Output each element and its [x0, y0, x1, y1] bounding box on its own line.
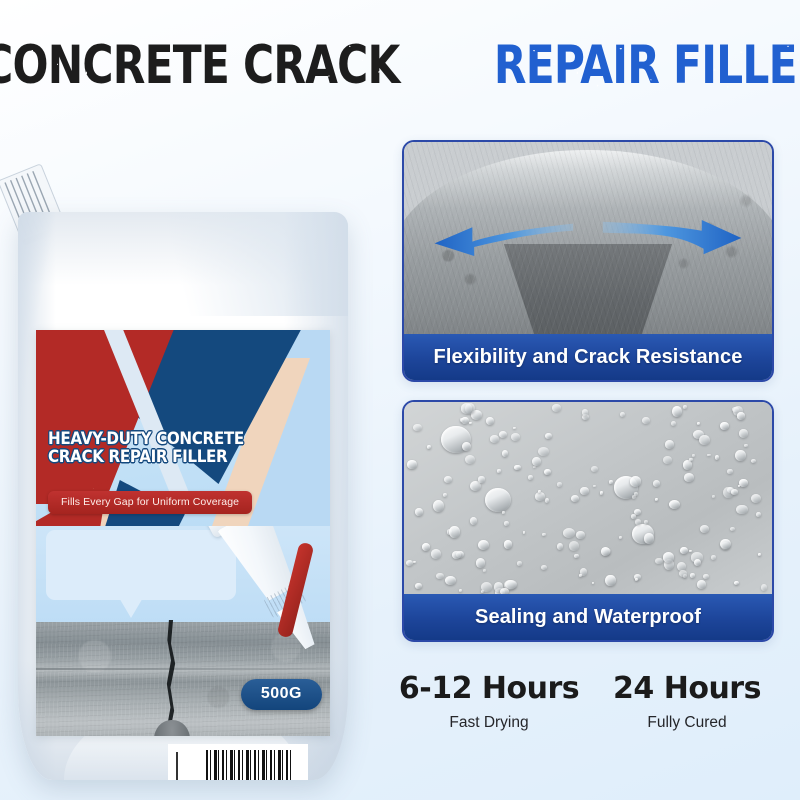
- arrow-left-icon: [422, 220, 584, 256]
- headline-part-primary: CONCRETE CRACK: [0, 39, 399, 92]
- water-droplet: [538, 490, 541, 493]
- water-droplet: [631, 514, 636, 518]
- water-droplet: [700, 525, 709, 533]
- label-tagline-banner: Fills Every Gap for Uniform Coverage: [48, 491, 252, 514]
- water-droplet: [580, 487, 588, 495]
- water-droplet: [735, 450, 746, 461]
- water-droplet: [737, 412, 744, 419]
- water-droplet: [720, 539, 730, 549]
- label-product-title: HEAVY-DUTY CONCRETE CRACK REPAIR FILLER: [48, 430, 302, 467]
- stat-fast-drying: 6-12 Hours Fast Drying: [390, 672, 588, 758]
- water-droplet: [528, 475, 533, 480]
- pouch-body: HEAVY-DUTY CONCRETE CRACK REPAIR FILLER …: [18, 212, 348, 780]
- page-title: CONCRETE CRACK REPAIR FILLER: [0, 34, 800, 96]
- water-droplet: [542, 533, 546, 536]
- water-droplet: [461, 403, 472, 413]
- water-droplet: [579, 574, 582, 576]
- water-droplet: [609, 480, 612, 484]
- water-droplet: [514, 465, 521, 470]
- barcode-icon: [206, 750, 292, 780]
- stat-fully-cured: 24 Hours Fully Cured: [588, 672, 786, 758]
- water-droplet: [653, 480, 660, 487]
- water-droplet: [683, 460, 692, 470]
- water-droplet: [504, 521, 509, 525]
- water-droplets-photo: [404, 402, 772, 598]
- panel-caption-waterproof: Sealing and Waterproof: [404, 594, 772, 640]
- product-label: HEAVY-DUTY CONCRETE CRACK REPAIR FILLER …: [36, 330, 330, 736]
- water-droplet: [427, 445, 431, 449]
- crack-closeup-photo: [404, 142, 772, 338]
- headline-part-accent: REPAIR FILLER: [493, 39, 800, 92]
- headline-primary-text: CONCRETE CRACK: [0, 35, 399, 96]
- water-droplet: [502, 511, 505, 514]
- water-droplet: [538, 447, 549, 456]
- water-droplet: [600, 491, 603, 494]
- water-droplet: [630, 476, 642, 487]
- water-droplet: [552, 404, 561, 411]
- water-droplet: [663, 456, 672, 464]
- stats-row: 6-12 Hours Fast Drying 24 Hours Fully Cu…: [390, 672, 786, 758]
- arrow-right-icon: [592, 220, 754, 256]
- water-droplet: [644, 533, 653, 543]
- water-droplet: [460, 418, 464, 422]
- water-droplet: [671, 421, 676, 426]
- water-droplet: [605, 575, 615, 586]
- water-droplet: [470, 517, 477, 525]
- water-droplet: [731, 489, 738, 495]
- water-droplet: [642, 417, 650, 424]
- water-droplet: [727, 469, 732, 475]
- headline-accent-text: REPAIR FILLER: [493, 35, 800, 96]
- water-droplet: [715, 455, 719, 459]
- barcode-area: 6 973196 500433: [168, 744, 308, 780]
- water-droplet: [413, 561, 416, 563]
- pouch-sheen-top: [18, 212, 348, 310]
- water-droplet: [699, 435, 710, 446]
- water-droplet: [497, 469, 501, 472]
- water-droplet: [738, 485, 741, 488]
- label-illustration-scene: 500G: [36, 526, 330, 736]
- water-droplet: [689, 550, 692, 552]
- water-droplet: [692, 454, 695, 457]
- weight-badge: 500G: [241, 679, 322, 710]
- water-droplet: [517, 561, 522, 566]
- barcode-guard-bar: [176, 752, 178, 780]
- water-droplet: [679, 570, 688, 577]
- water-droplet: [684, 473, 694, 482]
- feature-panel-flexibility: Flexibility and Crack Resistance: [402, 140, 774, 382]
- water-droplet: [655, 498, 658, 501]
- feature-panel-waterproof: Sealing and Waterproof: [402, 400, 774, 642]
- water-droplet: [689, 458, 692, 461]
- water-droplet: [663, 552, 675, 563]
- water-droplet: [422, 543, 430, 550]
- water-droplet: [635, 519, 641, 525]
- water-droplet: [532, 457, 541, 466]
- water-droplet: [619, 536, 622, 539]
- water-droplet: [478, 476, 484, 482]
- water-droplet: [620, 412, 625, 417]
- water-droplet: [436, 573, 443, 579]
- stat-value-fully-cured: 24 Hours: [588, 672, 786, 707]
- water-droplet: [444, 476, 452, 483]
- water-droplet: [739, 479, 748, 487]
- water-droplet: [665, 440, 674, 448]
- water-droplet: [499, 431, 508, 438]
- stat-label-fully-cured: Fully Cured: [588, 714, 786, 732]
- concrete-seam-line: [36, 668, 330, 670]
- product-pouch: HEAVY-DUTY CONCRETE CRACK REPAIR FILLER …: [0, 160, 390, 780]
- water-droplet: [445, 576, 455, 585]
- water-droplet: [431, 549, 442, 559]
- water-droplet: [415, 508, 422, 516]
- stat-label-fast-drying: Fast Drying: [390, 714, 588, 732]
- water-droplet: [415, 583, 421, 589]
- stat-value-fast-drying: 6-12 Hours: [390, 672, 588, 707]
- water-droplet: [582, 409, 589, 415]
- water-droplet: [544, 469, 551, 476]
- water-droplet: [736, 505, 747, 515]
- water-droplet: [739, 429, 748, 438]
- water-droplet: [545, 498, 550, 503]
- water-droplet: [758, 553, 761, 556]
- water-droplet: [711, 555, 716, 560]
- water-droplet: [502, 450, 508, 457]
- water-droplet: [462, 442, 471, 451]
- water-droplet: [490, 435, 499, 442]
- water-droplet: [655, 558, 662, 564]
- pouch-fold-diagonal: [18, 212, 348, 316]
- water-droplet: [591, 466, 598, 472]
- panel-caption-flexibility: Flexibility and Crack Resistance: [404, 334, 772, 380]
- water-droplet: [476, 558, 485, 567]
- water-droplet: [690, 573, 695, 578]
- water-droplet: [407, 460, 416, 469]
